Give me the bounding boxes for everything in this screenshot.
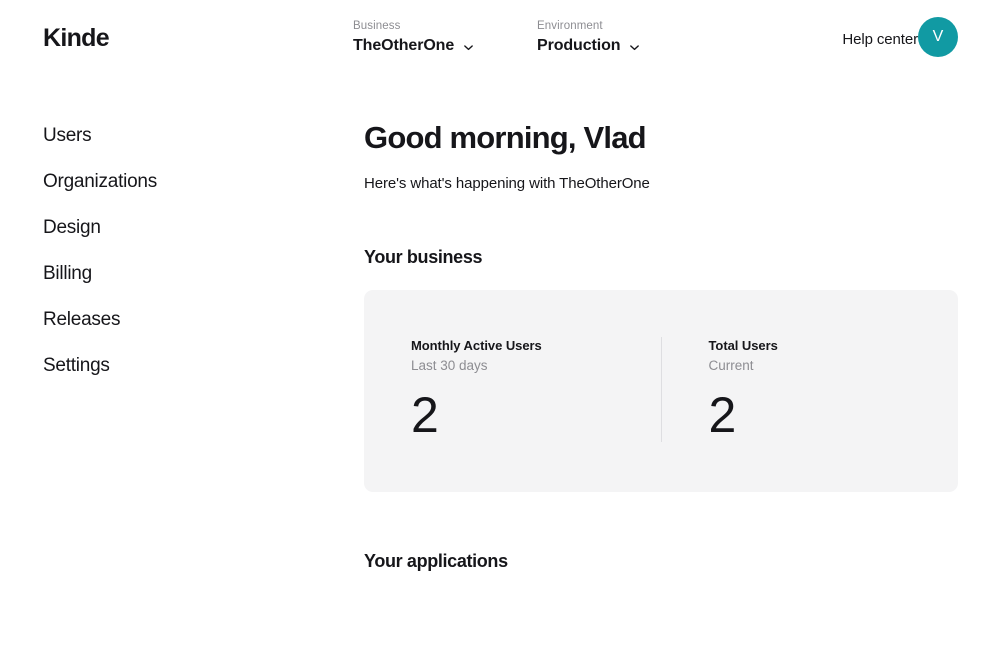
environment-switcher-value: Production	[537, 36, 620, 56]
sidebar-item-organizations[interactable]: Organizations	[43, 170, 303, 194]
your-applications-heading: Your applications	[364, 550, 964, 573]
stat-title: Total Users	[709, 337, 959, 354]
sidebar-item-releases[interactable]: Releases	[43, 308, 303, 332]
stat-subtitle: Last 30 days	[411, 357, 661, 375]
top-bar: Kinde Business TheOtherOne Environment P…	[0, 0, 1006, 76]
environment-switcher-row[interactable]: Production	[537, 36, 640, 56]
business-switcher[interactable]: Business TheOtherOne	[353, 19, 474, 56]
business-switcher-row[interactable]: TheOtherOne	[353, 36, 474, 56]
help-center-link[interactable]: Help center	[842, 30, 918, 49]
chevron-down-icon	[463, 42, 474, 53]
business-switcher-value: TheOtherOne	[353, 36, 454, 56]
chevron-down-icon	[629, 42, 640, 53]
stat-title: Monthly Active Users	[411, 337, 661, 354]
sidebar-item-users[interactable]: Users	[43, 124, 303, 148]
kinde-logo[interactable]: Kinde	[43, 24, 109, 52]
sidebar-item-settings[interactable]: Settings	[43, 354, 303, 378]
sidebar-item-billing[interactable]: Billing	[43, 262, 303, 286]
stat-value: 2	[709, 387, 959, 443]
your-business-heading: Your business	[364, 246, 964, 269]
sidebar: Users Organizations Design Billing Relea…	[43, 124, 303, 378]
stat-total-users: Total Users Current 2	[661, 290, 959, 492]
environment-switcher-label: Environment	[537, 19, 640, 33]
page-title: Good morning, Vlad	[364, 118, 964, 158]
main-content: Good morning, Vlad Here's what's happeni…	[364, 118, 964, 573]
stat-subtitle: Current	[709, 357, 959, 375]
stat-monthly-active-users: Monthly Active Users Last 30 days 2	[364, 290, 661, 492]
business-stats-card: Monthly Active Users Last 30 days 2 Tota…	[364, 290, 958, 492]
sidebar-item-design[interactable]: Design	[43, 216, 303, 240]
stat-value: 2	[411, 387, 661, 443]
stat-divider	[661, 337, 662, 442]
environment-switcher[interactable]: Environment Production	[537, 19, 640, 56]
business-switcher-label: Business	[353, 19, 474, 33]
dashboard-page: Kinde Business TheOtherOne Environment P…	[0, 0, 1006, 647]
avatar[interactable]: V	[918, 17, 958, 57]
page-subtitle: Here's what's happening with TheOtherOne	[364, 174, 964, 194]
